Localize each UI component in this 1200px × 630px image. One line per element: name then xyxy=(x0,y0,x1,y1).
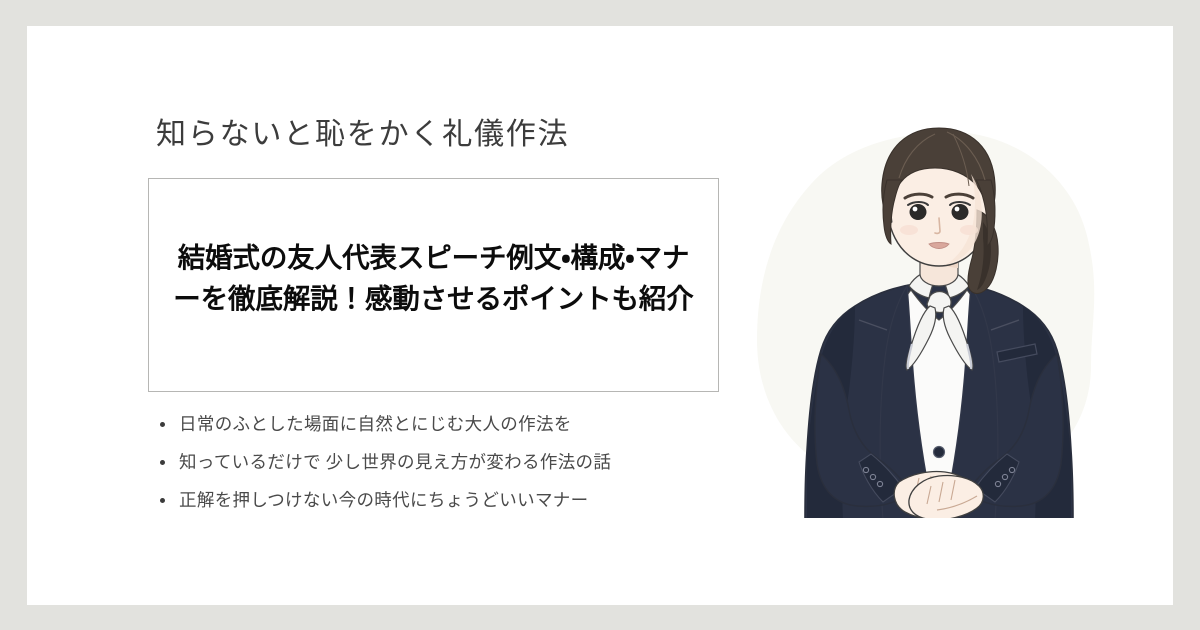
list-item: 正解を押しつけない今の時代にちょうどいいマナー xyxy=(148,490,758,511)
bullet-dot-icon xyxy=(160,498,165,503)
cheek-left xyxy=(900,225,918,235)
bottom-fade-mask xyxy=(739,518,1139,564)
list-item: 日常のふとした場面に自然とにじむ大人の作法を xyxy=(148,414,758,435)
eye-right-highlight xyxy=(955,207,960,212)
bullet-list: 日常のふとした場面に自然とにじむ大人の作法を 知っているだけで 少し世界の見え方… xyxy=(148,414,758,511)
businesswoman-illustration-svg xyxy=(739,114,1139,564)
bullet-dot-icon xyxy=(160,460,165,465)
bullet-dot-icon xyxy=(160,422,165,427)
left-content-column: 知らないと恥をかく礼儀作法 結婚式の友人代表スピーチ例文・構成・マナーを徹底解説… xyxy=(148,116,758,511)
eyebrow-heading: 知らないと恥をかく礼儀作法 xyxy=(156,116,758,154)
eye-left-highlight xyxy=(913,207,918,212)
list-item-label: 正解を押しつけない今の時代にちょうどいいマナー xyxy=(179,490,589,510)
page-title: 結婚式の友人代表スピーチ例文・構成・マナーを徹底解説！感動させるポイントも紹介 xyxy=(171,238,696,318)
eye-right xyxy=(952,204,969,220)
title-box: 結婚式の友人代表スピーチ例文・構成・マナーを徹底解説！感動させるポイントも紹介 xyxy=(148,178,719,392)
list-item: 知っているだけで 少し世界の見え方が変わる作法の話 xyxy=(148,452,758,473)
businesswoman-illustration xyxy=(739,114,1139,564)
jacket-button-icon xyxy=(934,447,945,458)
white-card: 知らないと恥をかく礼儀作法 結婚式の友人代表スピーチ例文・構成・マナーを徹底解説… xyxy=(27,26,1173,605)
ogp-canvas: 知らないと恥をかく礼儀作法 結婚式の友人代表スピーチ例文・構成・マナーを徹底解説… xyxy=(0,0,1200,630)
eye-left xyxy=(910,204,927,220)
list-item-label: 知っているだけで 少し世界の見え方が変わる作法の話 xyxy=(179,452,611,472)
list-item-label: 日常のふとした場面に自然とにじむ大人の作法を xyxy=(179,414,572,434)
